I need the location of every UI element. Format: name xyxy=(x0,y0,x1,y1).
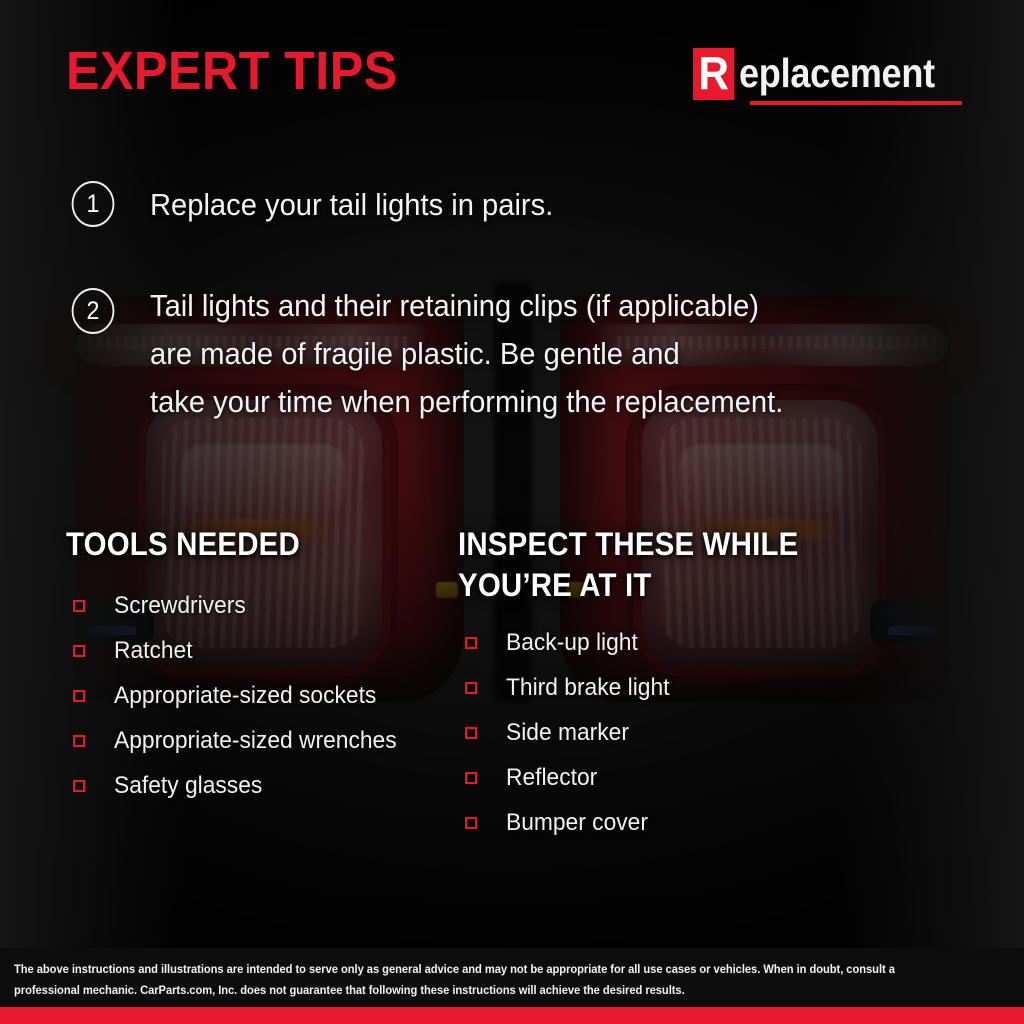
disclaimer-text: The above instructions and illustrations… xyxy=(14,959,940,1001)
list-item[interactable]: Appropriate-sized wrenches xyxy=(66,718,456,763)
heading-line: INSPECT THESE WHILE xyxy=(458,524,844,565)
list-item-label: Third brake light xyxy=(506,675,669,701)
heading-line: YOU’RE AT IT xyxy=(458,565,844,606)
checkbox-icon[interactable] xyxy=(465,772,477,784)
inspect-these-list: Back-up light Third brake light Side mar… xyxy=(458,620,878,845)
list-item-label: Back-up light xyxy=(506,630,638,656)
inspect-these-heading: INSPECT THESE WHILE YOU’RE AT IT xyxy=(458,524,844,606)
list-item[interactable]: Ratchet xyxy=(66,628,456,673)
logo-wordmark: eplacement xyxy=(739,48,935,98)
checkbox-icon[interactable] xyxy=(465,727,477,739)
checkbox-icon[interactable] xyxy=(73,600,85,612)
heading-line: TOOLS NEEDED xyxy=(66,524,425,565)
page-title: EXPERT TIPS xyxy=(66,44,398,98)
list-item[interactable]: Appropriate-sized sockets xyxy=(66,673,456,718)
list-item-label: Appropriate-sized wrenches xyxy=(114,728,397,754)
tip-line: Tail lights and their retaining clips (i… xyxy=(150,282,783,330)
list-item[interactable]: Safety glasses xyxy=(66,763,456,808)
list-item-label: Safety glasses xyxy=(114,773,262,799)
tools-needed-heading: TOOLS NEEDED xyxy=(66,524,425,565)
list-item[interactable]: Back-up light xyxy=(458,620,878,665)
checkbox-icon[interactable] xyxy=(73,645,85,657)
list-item[interactable]: Screwdrivers xyxy=(66,583,456,628)
list-item-label: Appropriate-sized sockets xyxy=(114,683,376,709)
logo-underline xyxy=(750,101,962,105)
replacement-brand-logo: R eplacement xyxy=(693,48,962,105)
tip-text: Replace your tail lights in pairs. xyxy=(150,181,553,229)
tip-number-badge: 1 xyxy=(72,181,115,227)
list-item[interactable]: Side marker xyxy=(458,710,878,755)
logo-wordmark-row: R eplacement xyxy=(693,48,962,100)
checkbox-icon[interactable] xyxy=(73,690,85,702)
checkbox-icon[interactable] xyxy=(465,817,477,829)
content-layer: EXPERT TIPS R eplacement 1 Replace your … xyxy=(0,0,1024,1024)
bottom-accent-bar xyxy=(0,1007,1024,1024)
tools-needed-list: Screwdrivers Ratchet Appropriate-sized s… xyxy=(66,583,456,808)
inspect-these-section: INSPECT THESE WHILE YOU’RE AT IT Back-up… xyxy=(458,524,878,845)
tip-line: take your time when performing the repla… xyxy=(150,378,783,426)
checkbox-icon[interactable] xyxy=(465,637,477,649)
list-item-label: Ratchet xyxy=(114,638,193,664)
list-item[interactable]: Bumper cover xyxy=(458,800,878,845)
tip-line: are made of fragile plastic. Be gentle a… xyxy=(150,330,783,378)
list-item[interactable]: Reflector xyxy=(458,755,878,800)
tip-number-badge: 2 xyxy=(72,288,115,334)
tip-item-2: 2 Tail lights and their retaining clips … xyxy=(70,288,824,426)
list-item-label: Bumper cover xyxy=(506,810,648,836)
expert-tips-infographic: EXPERT TIPS R eplacement 1 Replace your … xyxy=(0,0,1024,1024)
disclaimer-line: professional mechanic. CarParts.com, Inc… xyxy=(14,980,940,1001)
tip-text: Tail lights and their retaining clips (i… xyxy=(150,282,783,426)
tip-item-1: 1 Replace your tail lights in pairs. xyxy=(70,181,579,229)
list-item[interactable]: Third brake light xyxy=(458,665,878,710)
checkbox-icon[interactable] xyxy=(73,735,85,747)
logo-initial-badge: R xyxy=(693,48,735,100)
disclaimer-footer: The above instructions and illustrations… xyxy=(0,948,1024,1007)
list-item-label: Side marker xyxy=(506,720,629,746)
tools-needed-section: TOOLS NEEDED Screwdrivers Ratchet Approp… xyxy=(66,524,456,808)
list-item-label: Reflector xyxy=(506,765,597,791)
checkbox-icon[interactable] xyxy=(73,780,85,792)
list-item-label: Screwdrivers xyxy=(114,593,246,619)
checkbox-icon[interactable] xyxy=(465,682,477,694)
tip-line: Replace your tail lights in pairs. xyxy=(150,181,553,229)
disclaimer-line: The above instructions and illustrations… xyxy=(14,959,940,980)
